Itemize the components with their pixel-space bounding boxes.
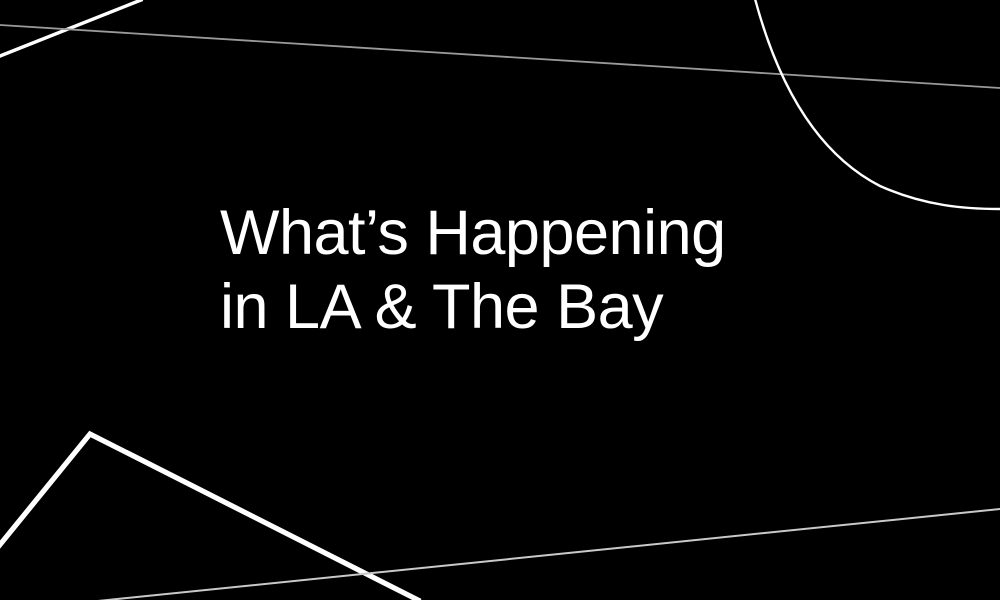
page-title: What’s Happening in LA & The Bay [220,196,920,344]
upper-horizon-stroke-icon [0,25,1000,88]
bottom-left-peak-stroke-icon [0,434,418,600]
top-right-arc-stroke-icon [748,0,1000,209]
lower-horizon-stroke-icon [88,509,1000,600]
headline-line-2: in LA & The Bay [220,270,920,344]
headline-line-1: What’s Happening [220,196,920,270]
top-left-diagonal-stroke-icon [0,0,141,56]
slide-canvas: What’s Happening in LA & The Bay [0,0,1000,600]
